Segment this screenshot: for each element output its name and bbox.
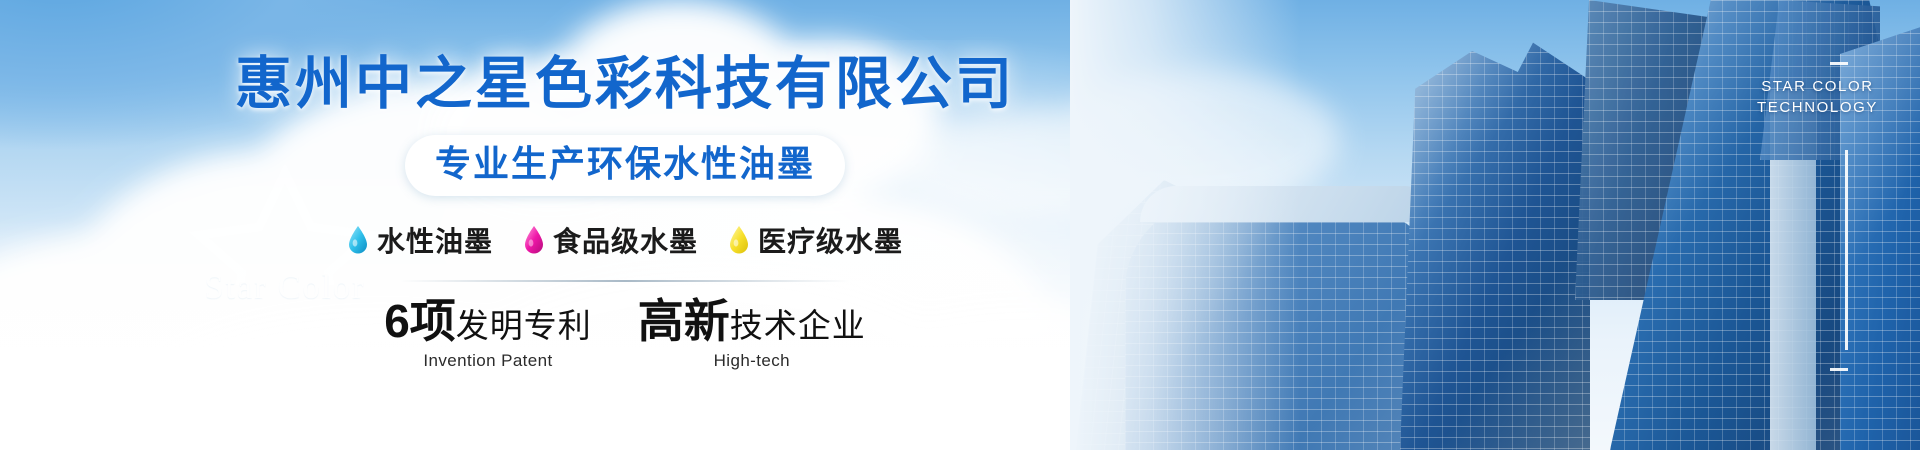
- badge-suffix: 发明专利: [456, 307, 592, 344]
- hero-banner: Star Color STAR COLOR TECHNOLOGY 惠州中之星色彩…: [0, 0, 1920, 450]
- badge-highlight: 高新: [638, 295, 730, 347]
- slogan-pill: 专业生产环保水性油墨: [405, 135, 845, 196]
- marker-tick-bottom: [1830, 368, 1848, 371]
- droplet-icon: [523, 225, 545, 255]
- feature-item-medical-grade-ink: 医疗级水墨: [728, 220, 903, 260]
- badge-chinese-line: 高新技术企业: [638, 298, 866, 344]
- badge-chinese-line: 6项发明专利: [384, 298, 592, 344]
- marker-vertical-line: [1845, 150, 1848, 350]
- feature-item-water-based-ink: 水性油墨: [347, 220, 493, 260]
- badge-high-tech: 高新技术企业 High-tech: [638, 298, 866, 371]
- marker-tick-top: [1830, 62, 1848, 65]
- section-divider: [400, 280, 850, 282]
- badge-highlight: 6项: [384, 295, 456, 347]
- city-brand-line1: STAR COLOR: [1757, 76, 1878, 97]
- feature-label: 医疗级水墨: [758, 220, 903, 260]
- building-right-foreground: [1840, 0, 1920, 450]
- droplet-icon: [728, 225, 750, 255]
- badge-invention-patent: 6项发明专利 Invention Patent: [384, 298, 592, 371]
- slogan-text: 专业生产环保水性油墨: [435, 144, 815, 184]
- company-title: 惠州中之星色彩科技有限公司: [235, 56, 1015, 113]
- badge-suffix: 技术企业: [730, 307, 866, 344]
- feature-item-food-grade-ink: 食品级水墨: [523, 220, 698, 260]
- feature-list: 水性油墨 食品级水墨: [347, 220, 903, 260]
- droplet-icon: [347, 225, 369, 255]
- feature-label: 水性油墨: [377, 220, 493, 260]
- banner-content: 惠州中之星色彩科技有限公司 专业生产环保水性油墨 水性油墨: [0, 0, 1250, 450]
- badge-english-label: High-tech: [638, 351, 866, 371]
- city-brand-label: STAR COLOR TECHNOLOGY: [1757, 76, 1878, 118]
- city-brand-line2: TECHNOLOGY: [1757, 97, 1878, 118]
- feature-label: 食品级水墨: [553, 220, 698, 260]
- badge-english-label: Invention Patent: [384, 351, 592, 371]
- credential-badges: 6项发明专利 Invention Patent 高新技术企业 High-tech: [384, 298, 866, 371]
- building-round-tower: [1400, 30, 1590, 450]
